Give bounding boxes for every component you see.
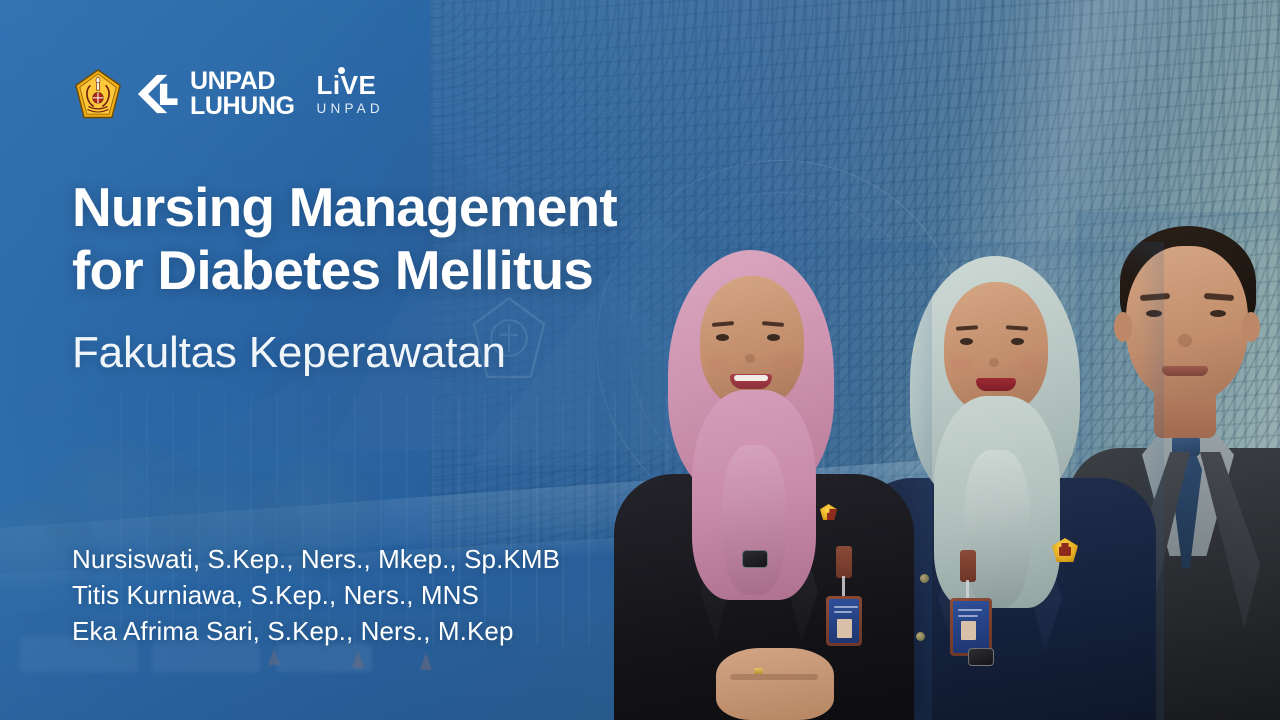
lanyard-clip (960, 550, 976, 582)
id-badge-face (953, 601, 989, 653)
lanyard-strap (966, 580, 969, 600)
id-badge-text-line (958, 615, 978, 617)
id-badge (826, 596, 862, 646)
eye-right (1011, 338, 1024, 345)
id-badge-photo (961, 621, 976, 640)
unpad-seal-icon (74, 69, 122, 119)
eye-right (1210, 310, 1226, 317)
hijab-fold (722, 445, 786, 595)
cheek-left (708, 356, 728, 368)
live-unpad-subtitle: UNPAD (317, 101, 384, 116)
eye-left (960, 338, 973, 345)
clip-microphone (742, 550, 768, 568)
clip-microphone (968, 648, 994, 666)
id-badge-text-line (958, 609, 982, 611)
live-i-dot-icon (338, 67, 345, 74)
finger-ring (754, 668, 763, 674)
cheek-right (1020, 358, 1040, 370)
cheek-right (776, 356, 796, 368)
id-badge-text-line (834, 611, 852, 613)
lanyard-clip (836, 546, 852, 578)
eye-right (767, 334, 780, 341)
nose (745, 354, 755, 363)
lanyard-strap (842, 576, 845, 598)
unpad-luhung-chevron-icon (135, 73, 179, 115)
presenter-name-list: Nursiswati, S.Kep., Ners., Mkep., Sp.KMB… (72, 541, 560, 649)
live-wordmark-text: LiVE (317, 70, 377, 100)
page-title: Nursing Management for Diabetes Mellitus (72, 176, 617, 302)
id-badge-photo (837, 619, 852, 638)
hijab-fold (964, 450, 1030, 608)
title-card-slide: UNPAD LUHUNG LiVE UNPAD Nursing Manageme… (0, 0, 1280, 720)
nose (1178, 334, 1192, 347)
presenter-name: Titis Kurniawa, S.Kep., Ners., MNS (72, 577, 560, 613)
brand-logo-bar: UNPAD LUHUNG LiVE UNPAD (74, 66, 384, 122)
unpad-luhung-wordmark: UNPAD LUHUNG (190, 69, 295, 119)
presenter-name: Nursiswati, S.Kep., Ners., Mkep., Sp.KMB (72, 541, 560, 577)
id-badge-text-line (834, 606, 858, 608)
clasped-hands (716, 648, 834, 720)
presenter-photo-1 (604, 250, 924, 720)
id-badge-face (829, 599, 859, 643)
nose (989, 358, 999, 367)
mouth (1162, 366, 1208, 376)
mouth-smiling (730, 374, 772, 389)
eye-left (716, 334, 729, 341)
mouth (976, 378, 1016, 391)
ear-right (1242, 312, 1260, 342)
live-wordmark: LiVE (317, 73, 384, 98)
presenter-name: Eka Afrima Sari, S.Kep., Ners., M.Kep (72, 613, 560, 649)
face (944, 282, 1048, 414)
page-subtitle-faculty: Fakultas Keperawatan (72, 327, 506, 379)
cheek-left (952, 358, 972, 370)
live-unpad-logo: LiVE UNPAD (317, 73, 384, 116)
